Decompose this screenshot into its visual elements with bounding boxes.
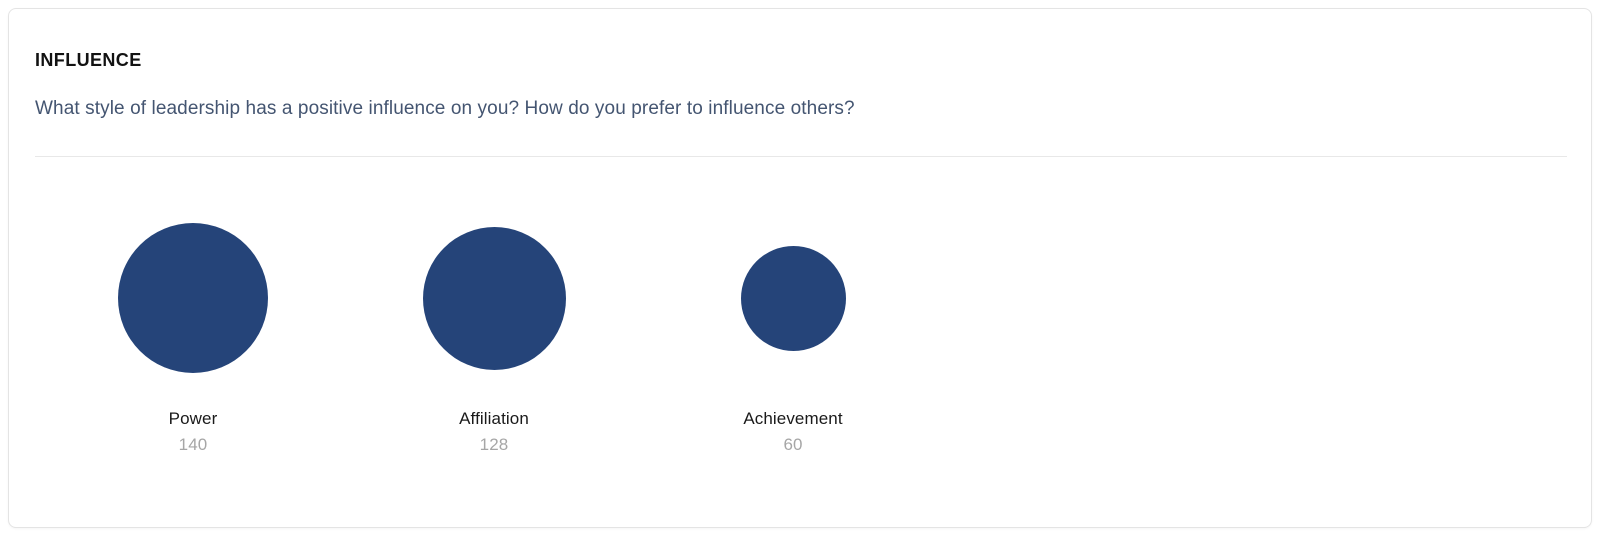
bubble-value: 60 [643, 434, 943, 455]
bubble-circle-zone [43, 156, 343, 381]
bubble-value: 140 [43, 434, 343, 455]
bubble-item[interactable]: Affiliation128 [344, 156, 644, 486]
bubble-chart: Power140Affiliation128Achievement60 [9, 156, 1591, 527]
bubble-item[interactable]: Achievement60 [643, 156, 943, 486]
influence-card: INFLUENCE What style of leadership has a… [8, 8, 1592, 528]
section-subtitle: What style of leadership has a positive … [35, 71, 1565, 121]
bubble-circle[interactable] [423, 227, 566, 370]
bubble-value: 128 [344, 434, 644, 455]
bubble-circle[interactable] [118, 223, 268, 373]
card-header: INFLUENCE What style of leadership has a… [35, 49, 1565, 121]
bubble-label: Achievement [643, 408, 943, 429]
page-title: INFLUENCE [35, 49, 1565, 71]
bubble-label: Power [43, 408, 343, 429]
bubble-circle-zone [344, 156, 644, 381]
bubble-circle-zone [643, 156, 943, 381]
bubble-row: Power140Affiliation128Achievement60 [35, 156, 1565, 486]
bubble-circle[interactable] [741, 246, 846, 351]
bubble-label: Affiliation [344, 408, 644, 429]
bubble-item[interactable]: Power140 [43, 156, 343, 486]
